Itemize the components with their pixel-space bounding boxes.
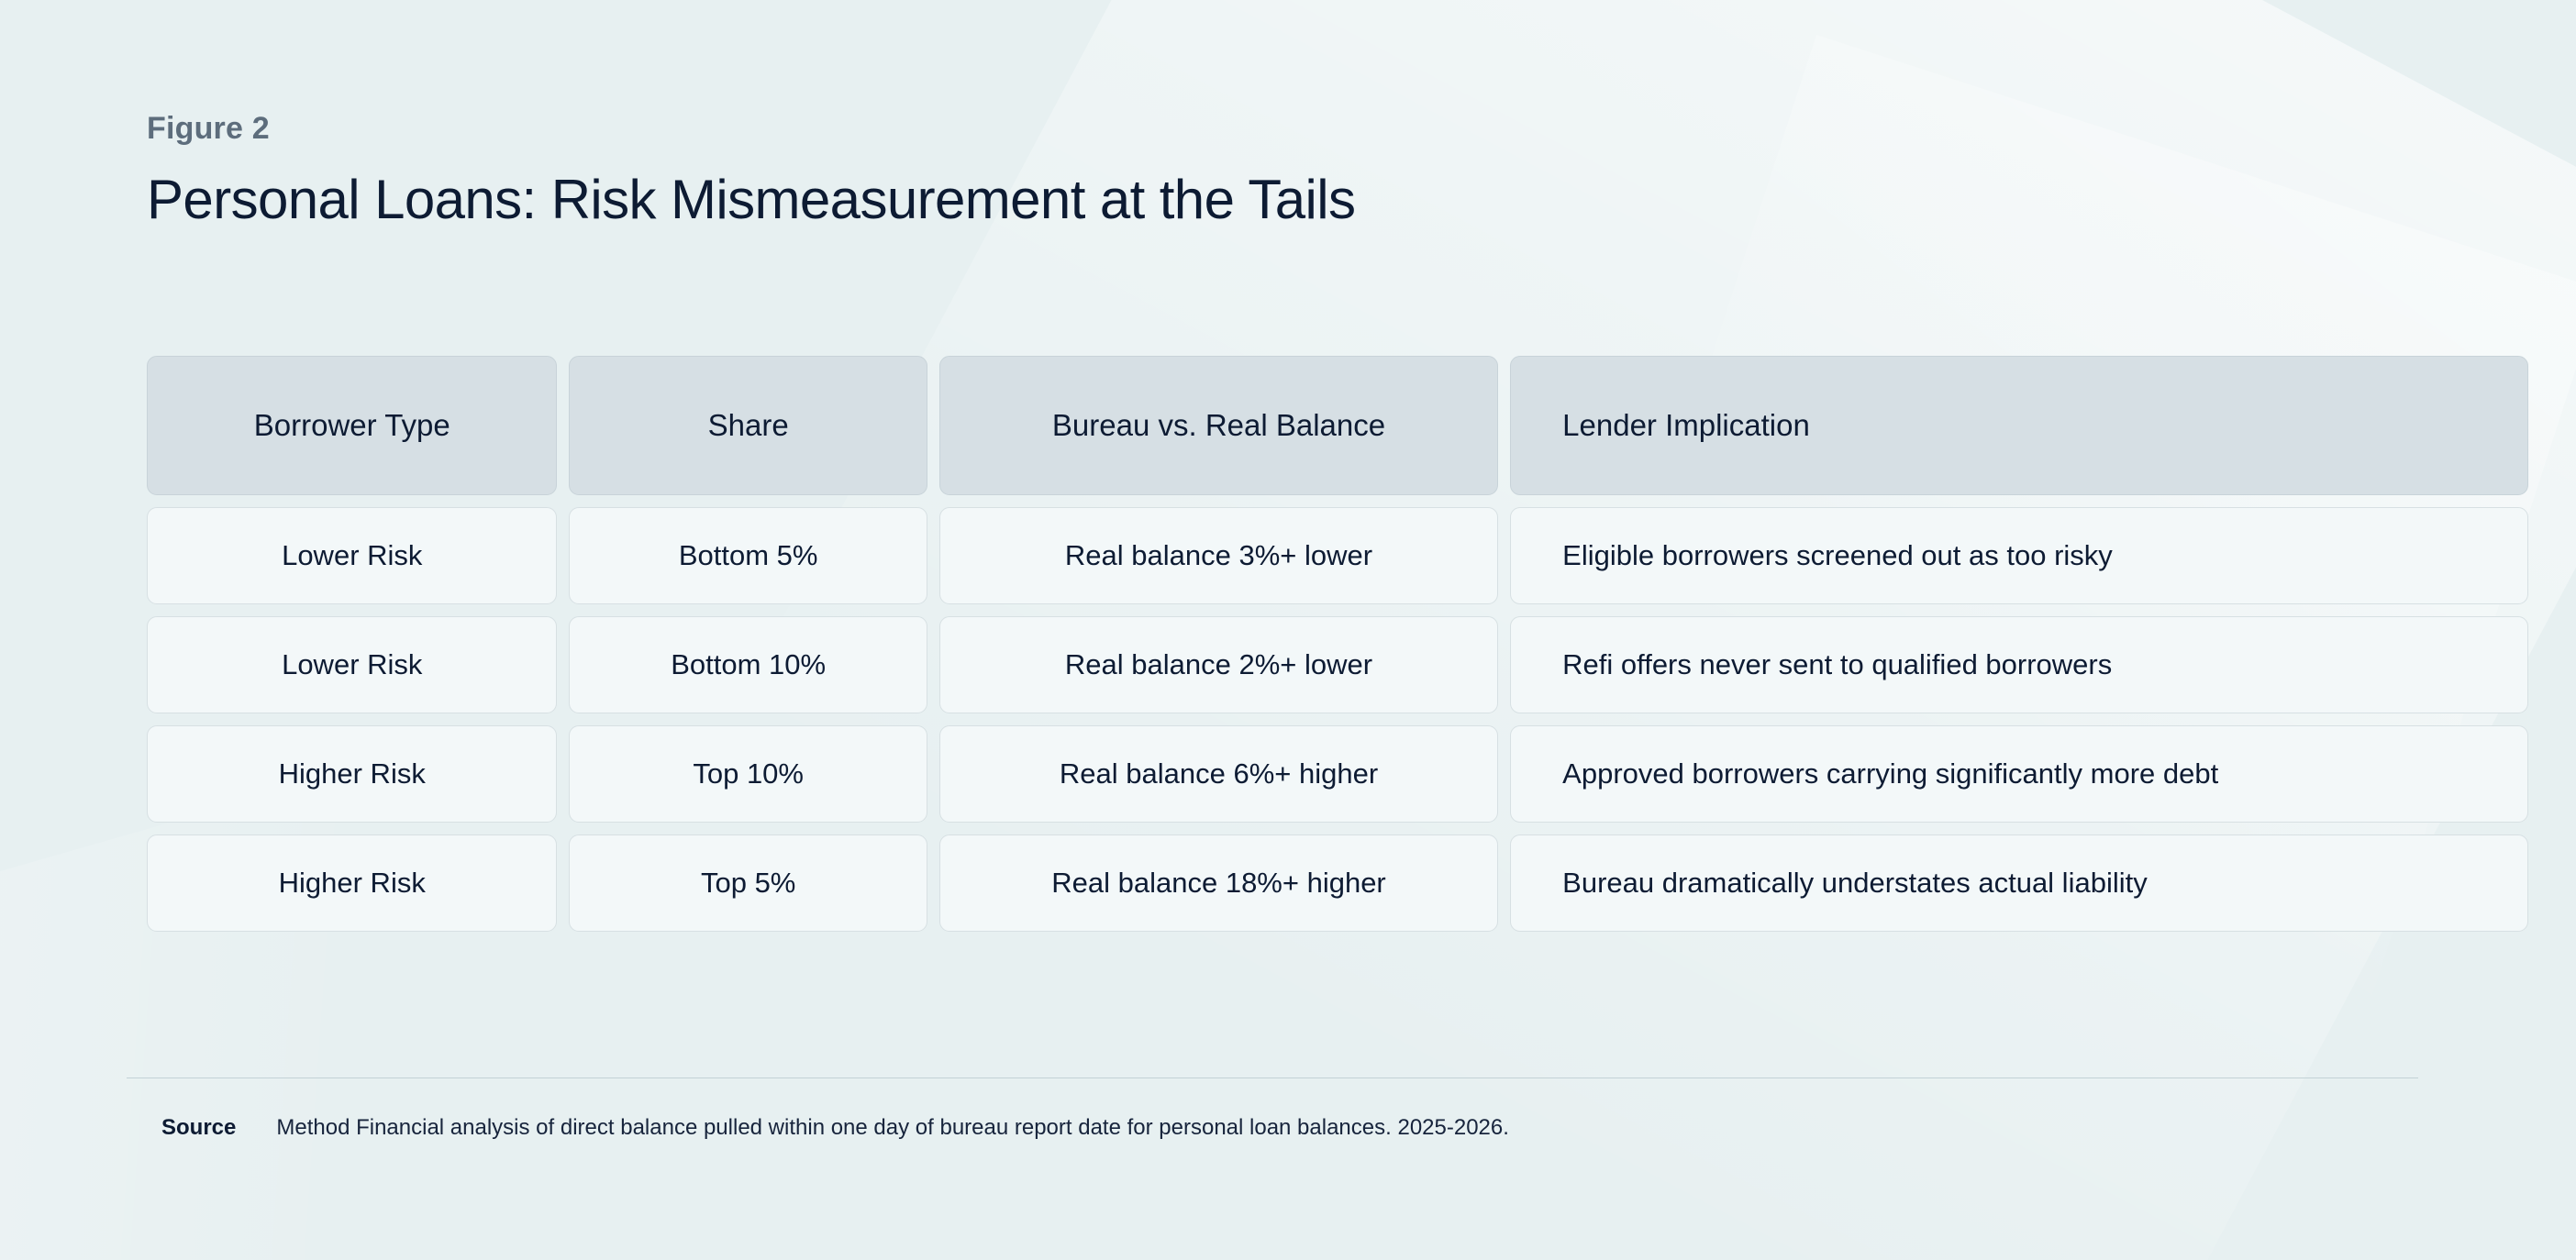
cell-implication: Refi offers never sent to qualified borr… [1510,616,2528,713]
source-text: Method Financial analysis of direct bala… [276,1115,1509,1141]
table-row: Higher Risk Top 5% Real balance 18%+ hig… [147,834,2528,932]
cell-implication: Bureau dramatically understates actual l… [1510,834,2528,932]
source-label: Source [161,1115,236,1141]
cell-borrower-type: Higher Risk [147,834,557,932]
cell-share: Bottom 5% [569,507,927,604]
table-row: Lower Risk Bottom 5% Real balance 3%+ lo… [147,507,2528,604]
comparison-table: Borrower Type Share Bureau vs. Real Bala… [147,356,2528,944]
cell-implication: Approved borrowers carrying significantl… [1510,725,2528,823]
figure-header: Figure 2 Personal Loans: Risk Mismeasure… [147,110,1355,231]
footer-divider [127,1078,2418,1078]
figure-footer: Source Method Financial analysis of dire… [127,1078,2418,1141]
figure-page: Figure 2 Personal Loans: Risk Mismeasure… [0,0,2576,1260]
cell-balance: Real balance 6%+ higher [939,725,1498,823]
cell-implication: Eligible borrowers screened out as too r… [1510,507,2528,604]
column-header-bureau-vs-real-balance: Bureau vs. Real Balance [939,356,1498,495]
table-row: Lower Risk Bottom 10% Real balance 2%+ l… [147,616,2528,713]
column-header-share: Share [569,356,927,495]
cell-share: Top 10% [569,725,927,823]
table-header-row: Borrower Type Share Bureau vs. Real Bala… [147,356,2528,495]
page-title: Personal Loans: Risk Mismeasurement at t… [147,168,1355,231]
cell-balance: Real balance 3%+ lower [939,507,1498,604]
source-note: Source Method Financial analysis of dire… [127,1115,2418,1141]
figure-label: Figure 2 [147,110,1355,148]
table-row: Higher Risk Top 10% Real balance 6%+ hig… [147,725,2528,823]
cell-borrower-type: Lower Risk [147,507,557,604]
cell-balance: Real balance 18%+ higher [939,834,1498,932]
cell-borrower-type: Lower Risk [147,616,557,713]
column-header-lender-implication: Lender Implication [1510,356,2528,495]
cell-borrower-type: Higher Risk [147,725,557,823]
column-header-borrower-type: Borrower Type [147,356,557,495]
cell-share: Bottom 10% [569,616,927,713]
cell-share: Top 5% [569,834,927,932]
cell-balance: Real balance 2%+ lower [939,616,1498,713]
